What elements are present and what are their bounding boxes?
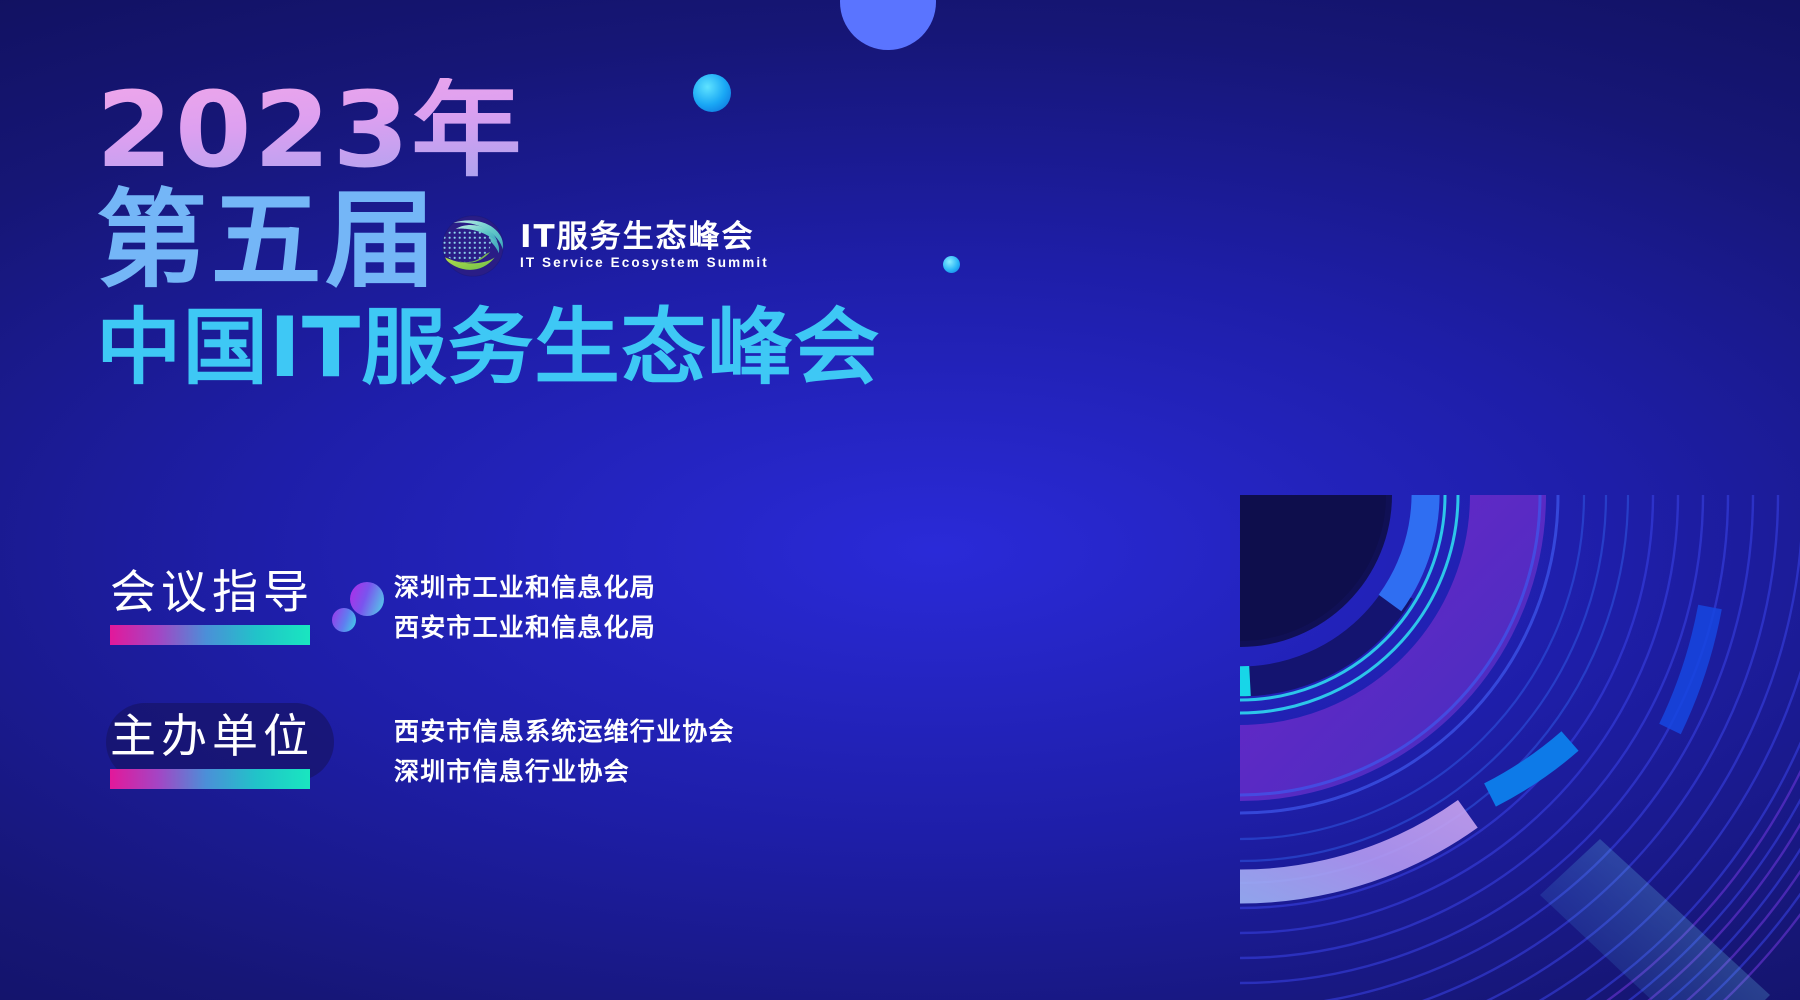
gradient-dot-large [350,582,384,616]
headline-year: 2023年 [96,78,1008,182]
headline-main-title: 中国IT服务生态峰会 [96,306,982,389]
organization-item: 西安市工业和信息化局 [394,614,656,643]
organization-list: 西安市信息系统运维行业协会 深圳市信息行业协会 [394,712,735,787]
headline-edition-row: 第五届 [96,188,956,294]
gradient-dot-small [332,608,356,632]
credit-block-guidance: 会议指导 深圳市工业和信息化局 西安市工业和信息化局 [96,568,656,645]
credit-label-column: 会议指导 [96,568,332,645]
organization-item: 西安市信息系统运维行业协会 [394,718,735,747]
gradient-underline-bar [110,769,310,789]
credit-label: 主办单位 [96,712,332,760]
organization-list: 深圳市工业和信息化局 西安市工业和信息化局 [394,568,656,643]
headline-block: 2023年 第五届 [96,78,956,389]
summit-logo: IT服务生态峰会 IT Service Ecosystem Summit [437,210,769,282]
headline-edition: 第五届 [96,188,439,294]
credit-block-host: 主办单位 西安市信息系统运维行业协会 深圳市信息行业协会 [96,712,735,789]
summit-logo-cn: IT服务生态峰会 [520,222,769,253]
conference-banner: 2023年 第五届 [0,0,1800,1000]
organization-item: 深圳市工业和信息化局 [394,574,656,603]
blue-circle-decor [840,0,936,50]
globe-sphere-logo-icon [437,210,509,282]
organization-item: 深圳市信息行业协会 [394,758,735,787]
credit-label: 会议指导 [96,568,332,616]
summit-logo-text: IT服务生态峰会 IT Service Ecosystem Summit [520,222,769,270]
summit-logo-en: IT Service Ecosystem Summit [520,256,769,270]
credit-label-column: 主办单位 [96,712,332,789]
gradient-underline-bar [110,625,310,645]
